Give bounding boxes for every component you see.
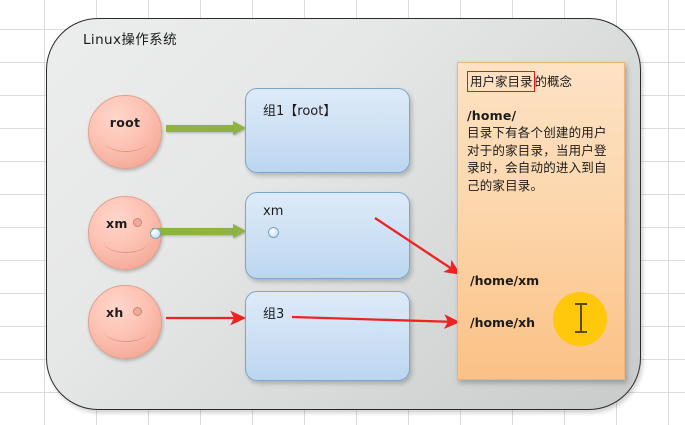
- panel-title-rest: 的概念: [535, 74, 573, 89]
- user-label-root: root: [89, 115, 161, 130]
- group-label-3: 组3: [263, 303, 284, 322]
- user-face-xh[interactable]: xh: [88, 285, 162, 359]
- panel-body-text: 目录下有各个创建的用户对于的家目录，当用户登录时，会自动的进入到自己的家目录。: [467, 124, 615, 194]
- panel-title: 用户家目录的概念: [467, 71, 615, 92]
- green-arrow-xm-to-group2: [152, 224, 247, 238]
- text-cursor-icon: [575, 303, 587, 333]
- os-title-label: Linux操作系统: [83, 28, 177, 48]
- connector-anchor-xm[interactable]: [150, 228, 161, 239]
- dot-icon: [133, 307, 142, 316]
- smile-icon: [104, 129, 148, 152]
- arrow-shaft: [166, 125, 234, 132]
- group-label-1: 组1【root】: [263, 100, 336, 119]
- path-home-xh: /home/xh: [470, 315, 535, 330]
- group-label-2: xm: [263, 204, 283, 219]
- smile-icon: [104, 230, 148, 253]
- smile-icon: [104, 319, 148, 342]
- dot-icon: [133, 218, 142, 227]
- path-home-xm: /home/xm: [470, 273, 539, 288]
- panel-title-highlighted: 用户家目录: [467, 71, 535, 92]
- ibeam-bottom: [575, 331, 587, 333]
- connector-anchor-group2[interactable]: [268, 227, 279, 238]
- green-arrow-root-to-group1: [166, 121, 246, 135]
- group-box-1[interactable]: 组1【root】: [245, 88, 410, 173]
- panel-home-label: /home/: [467, 108, 615, 123]
- group-box-3[interactable]: 组3: [245, 291, 410, 381]
- user-face-root[interactable]: root: [88, 95, 162, 169]
- arrow-shaft: [152, 228, 234, 235]
- ibeam-bar: [580, 305, 582, 331]
